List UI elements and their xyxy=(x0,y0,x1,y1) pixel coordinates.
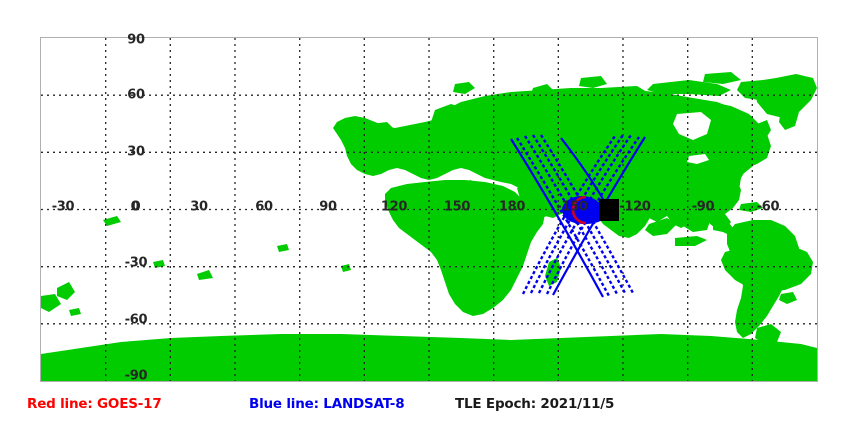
lat-tick--90: -90 xyxy=(125,370,148,383)
lon-tick-120: 120 xyxy=(381,201,407,214)
tasmania xyxy=(779,292,797,304)
lat-tick--60: -60 xyxy=(125,314,148,327)
sakhalin xyxy=(757,120,771,140)
legend: Red line: GOES-17 Blue line: LANDSAT-8 T… xyxy=(0,392,850,420)
lat-tick-60: 60 xyxy=(127,89,145,102)
lon-tick-60: 60 xyxy=(255,201,273,214)
lon-tick-30: 30 xyxy=(190,201,208,214)
lon-tick--150: -150 xyxy=(556,201,587,214)
svalbard xyxy=(453,82,475,94)
lon-tick--30: -30 xyxy=(52,201,75,214)
lon-tick--120: -120 xyxy=(619,201,650,214)
lon-tick--60: -60 xyxy=(757,201,780,214)
land-layer xyxy=(41,72,817,381)
lon-tick-90: 90 xyxy=(319,201,337,214)
new-zealand-s xyxy=(41,294,61,312)
pacific-isl-4 xyxy=(197,270,213,280)
figure-canvas: -30 0 30 60 90 120 150 180 -150 -120 -90… xyxy=(0,0,850,425)
legend-tle-epoch: TLE Epoch: 2021/11/5 xyxy=(455,398,614,412)
lon-tick--90: -90 xyxy=(692,201,715,214)
lat-tick-90: 90 xyxy=(127,34,145,47)
pacific-isl-3 xyxy=(153,260,165,268)
lon-tick-180: 180 xyxy=(499,201,525,214)
legend-landsat8: Blue line: LANDSAT-8 xyxy=(249,398,404,412)
lon-tick-150: 150 xyxy=(444,201,470,214)
new-zealand-n xyxy=(57,282,75,300)
lat-tick-30: 30 xyxy=(127,146,145,159)
severnaya xyxy=(579,76,607,88)
pacific-isl-6 xyxy=(277,244,289,252)
satellite-position-marker xyxy=(599,199,619,221)
south-georgia xyxy=(69,308,81,316)
lat-tick--30: -30 xyxy=(125,257,148,270)
ellesmere xyxy=(703,72,741,84)
legend-goes17: Red line: GOES-17 xyxy=(27,398,162,412)
indonesia-java xyxy=(675,236,707,246)
lat-tick-0: 0 xyxy=(132,201,141,214)
pacific-isl-5 xyxy=(341,264,351,272)
